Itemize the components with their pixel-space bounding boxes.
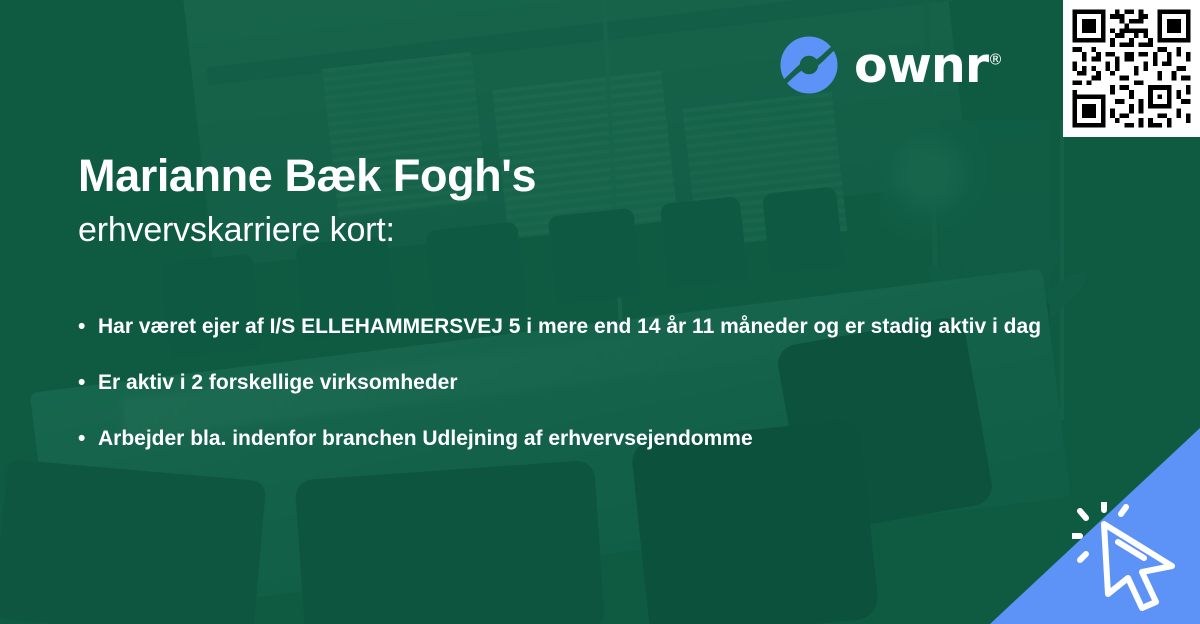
page-subtitle: erhvervskarriere kort:: [78, 209, 1020, 252]
page-title: Marianne Bæk Fogh's: [78, 152, 1020, 201]
ownr-logo[interactable]: ownr®: [778, 34, 1003, 96]
list-item-label: Arbejder bla. indenfor branchen Udlejnin…: [98, 424, 1080, 454]
career-facts-list: • Har været ejer af I/S ELLEHAMMERSVEJ 5…: [78, 312, 1080, 453]
list-item: • Har været ejer af I/S ELLEHAMMERSVEJ 5…: [78, 312, 1080, 342]
registered-trademark-mark: ®: [988, 50, 1003, 68]
click-cursor-icon: [1072, 502, 1192, 612]
ownr-circle-logo-icon: [778, 34, 840, 96]
business-career-card: ownr®: [0, 0, 1200, 624]
list-item-label: Er aktiv i 2 forskellige virksomheder: [98, 368, 1080, 398]
list-item: • Arbejder bla. indenfor branchen Udlejn…: [78, 424, 1080, 454]
list-item-label: Har været ejer af I/S ELLEHAMMERSVEJ 5 i…: [98, 312, 1080, 342]
heading-block: Marianne Bæk Fogh's erhvervskarriere kor…: [78, 152, 1020, 251]
bullet-dot-icon: •: [78, 424, 98, 454]
ownr-wordmark: ownr®: [854, 41, 1003, 90]
bullet-dot-icon: •: [78, 368, 98, 398]
bullet-dot-icon: •: [78, 312, 98, 342]
qr-code[interactable]: [1063, 0, 1200, 137]
list-item: • Er aktiv i 2 forskellige virksomheder: [78, 368, 1080, 398]
